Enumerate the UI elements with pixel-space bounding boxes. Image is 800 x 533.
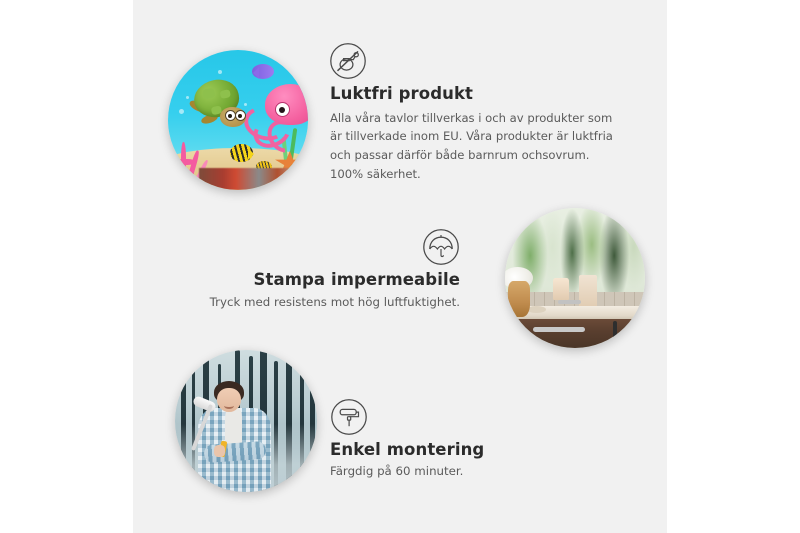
photo-circle-underwater [168,50,308,190]
lamp [553,278,570,300]
feature-odourless: Luktfri produkt Alla våra tavlor tillver… [330,42,620,184]
no-spray-bottle-icon [329,42,367,80]
faucet-icon [558,300,580,304]
turtle-icon [190,78,254,134]
underwater-scene [168,50,308,190]
cabinet-handle [613,321,617,343]
feature-easy-mount: Enkel montering Färgdig på 60 minuter. [330,398,590,481]
feature-title: Luktfri produkt [330,84,620,105]
foreground-strip [199,168,308,190]
feature-title: Enkel montering [330,440,590,461]
painter-person [195,381,283,492]
photo-circle-painter [175,350,317,492]
paint-roller-head [192,395,217,413]
umbrella-icon [422,228,460,266]
feature-body: Alla våra tavlor tillverkas i och av pro… [330,109,620,184]
vanity-cabinet [513,319,645,348]
bathroom-scene [505,208,645,348]
feature-waterproof: Stampa impermeabile Tryck med resistens … [160,228,460,312]
hand [214,445,225,456]
soap-dish [527,306,545,313]
vase [508,281,530,317]
paint-roller-icon [330,398,368,436]
promo-infographic: Luktfri produkt Alla våra tavlor tillver… [0,0,800,533]
feature-body: Färgdig på 60 minuter. [330,462,590,481]
yellow-fish-icon [230,144,254,162]
feature-body: Tryck med resistens mot hög luftfuktighe… [160,293,460,312]
octopus-icon [252,84,308,146]
feature-title: Stampa impermeabile [160,270,460,291]
photo-circle-bathroom [505,208,645,348]
painter-scene [175,350,317,492]
